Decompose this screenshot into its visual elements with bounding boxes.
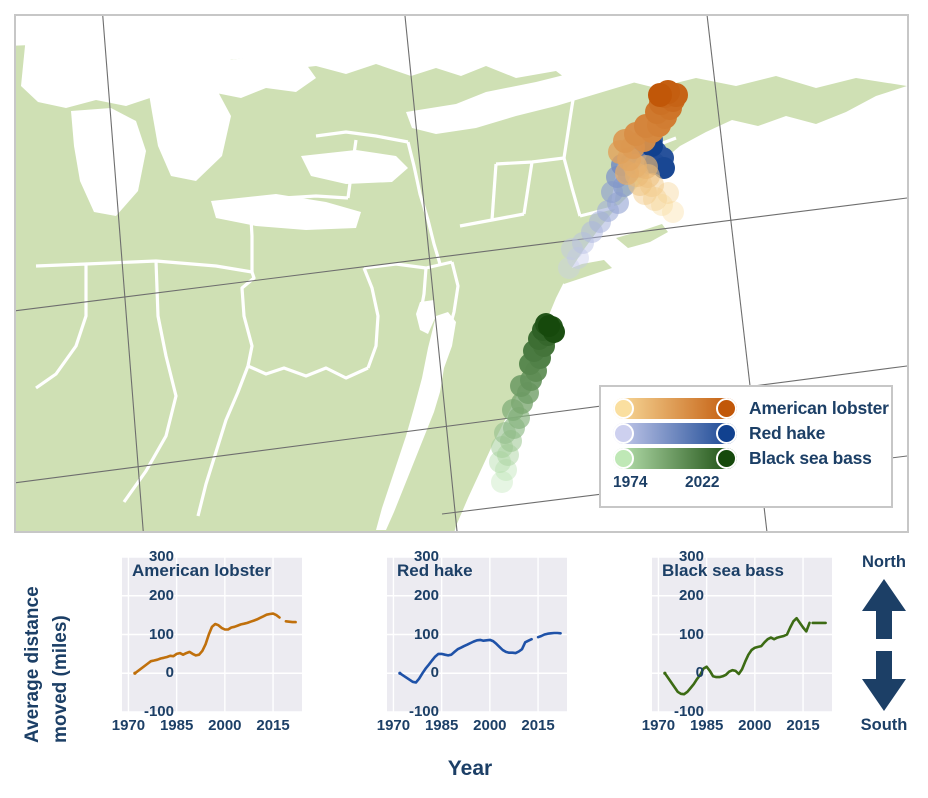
legend-end-dot-american-lobster — [716, 398, 737, 419]
y-tick-label: 100 — [393, 626, 439, 643]
point-group-black-sea-bass — [489, 313, 565, 493]
map-panel[interactable]: American lobster Red hake Black sea bass… — [14, 14, 909, 533]
legend-start-dot-black-sea-bass — [613, 448, 634, 469]
y-tick-label: 200 — [393, 587, 439, 604]
compass-north-label: North — [845, 553, 923, 572]
data-line — [286, 621, 296, 622]
map-point — [538, 315, 560, 337]
y-tick-label: 0 — [658, 664, 704, 681]
legend-gradient-bar-american-lobster — [613, 398, 737, 419]
legend-end-dot-red-hake — [716, 423, 737, 444]
legend-label-black-sea-bass: Black sea bass — [749, 448, 872, 469]
legend-gradient-bar-red-hake — [613, 423, 737, 444]
legend-start-dot-american-lobster — [613, 398, 634, 419]
x-axis-title: Year — [380, 757, 560, 781]
y-tick-label: 0 — [128, 664, 174, 681]
map-legend: American lobster Red hake Black sea bass… — [599, 385, 893, 508]
y-axis-title-line2: moved (miles) — [50, 615, 72, 743]
y-tick-label: 100 — [658, 626, 704, 643]
map-point — [648, 83, 672, 107]
y-tick-label: 200 — [658, 587, 704, 604]
y-axis-title: Average distance moved (miles) — [0, 545, 60, 755]
legend-label-red-hake: Red hake — [749, 423, 825, 444]
legend-start-dot-red-hake — [613, 423, 634, 444]
y-tick-label: 100 — [128, 626, 174, 643]
y-tick-label: 200 — [128, 587, 174, 604]
legend-year-range: 1974 2022 — [613, 474, 881, 492]
y-tick-label: 0 — [393, 664, 439, 681]
compass-south-label: South — [845, 716, 923, 735]
chart-red-hake[interactable]: Red hake 3002001000-1001970198520002015 — [387, 557, 627, 742]
chart-title-black-sea-bass: Black sea bass — [662, 561, 784, 581]
y-axis-title-line1: Average distance — [22, 586, 44, 743]
legend-row-american-lobster[interactable]: American lobster — [613, 396, 881, 421]
north-south-arrow-icon — [859, 577, 909, 713]
legend-end-dot-black-sea-bass — [716, 448, 737, 469]
chart-title-red-hake: Red hake — [397, 561, 473, 581]
x-tick-label: 2015 — [775, 717, 831, 734]
legend-year-end: 2022 — [685, 474, 719, 492]
chart-american-lobster[interactable]: American lobster 3002001000-100197019852… — [122, 557, 362, 742]
x-tick-label: 2015 — [510, 717, 566, 734]
x-tick-label: 2015 — [245, 717, 301, 734]
compass-indicator: North South — [845, 553, 923, 743]
legend-year-start: 1974 — [613, 474, 685, 492]
legend-row-black-sea-bass[interactable]: Black sea bass — [613, 446, 881, 471]
legend-label-american-lobster: American lobster — [749, 398, 889, 419]
legend-row-red-hake[interactable]: Red hake — [613, 421, 881, 446]
legend-gradient-bar-black-sea-bass — [613, 448, 737, 469]
chart-title-american-lobster: American lobster — [132, 561, 271, 581]
